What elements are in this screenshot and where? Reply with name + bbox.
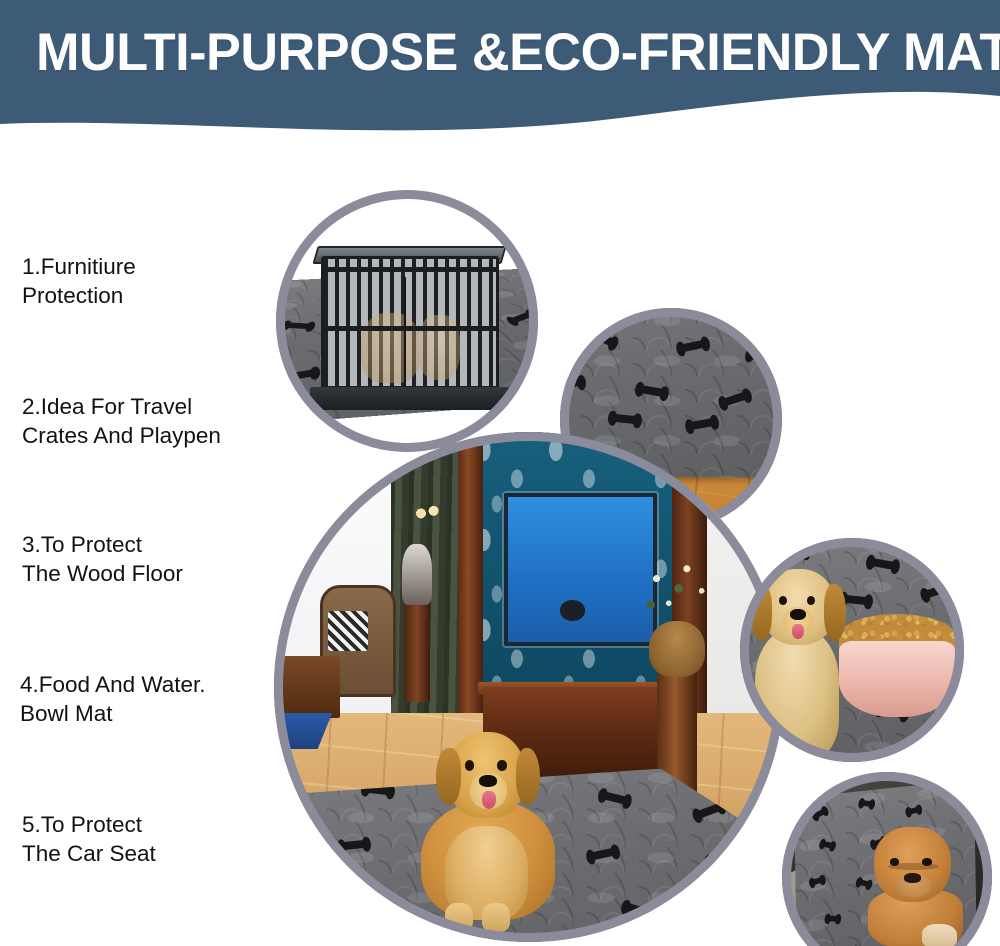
photo-collage xyxy=(0,140,1000,946)
header-banner: MULTI-PURPOSE &ECO-FRIENDLY MAT xyxy=(0,0,1000,140)
golden-retriever-dog xyxy=(412,728,565,932)
bone-icon xyxy=(639,385,666,397)
bone-icon xyxy=(860,800,872,807)
dog-tongue xyxy=(792,624,804,639)
bone-icon xyxy=(680,339,707,352)
puppy-eye-left xyxy=(890,858,899,865)
dog-eye-right xyxy=(497,760,506,770)
collage-circle-crate xyxy=(276,190,538,452)
bone-icon xyxy=(811,877,823,886)
wall-lamp xyxy=(412,493,443,544)
bone-icon xyxy=(274,795,285,810)
bone-icon xyxy=(749,351,776,366)
bone-icon xyxy=(284,322,312,329)
television xyxy=(504,493,657,646)
bone-icon xyxy=(589,847,616,860)
food-bowl-photo xyxy=(740,538,964,762)
tv-screen-object xyxy=(560,600,586,620)
dog-nose xyxy=(790,609,806,620)
collage-circle-food-bowl xyxy=(740,538,964,762)
bone-icon xyxy=(708,857,735,869)
crate-tray xyxy=(310,387,509,411)
bone-icon xyxy=(611,414,638,425)
dog-nose xyxy=(479,775,497,787)
crate-crossbar xyxy=(324,267,496,272)
bone-icon xyxy=(721,391,748,407)
bone-icon xyxy=(509,312,534,324)
bone-icon xyxy=(341,840,368,851)
crate-crossbar xyxy=(324,326,496,331)
dog-eye-left xyxy=(465,760,474,770)
bone-icon xyxy=(821,841,833,849)
bone-icon xyxy=(560,378,583,388)
golden-retriever-dog xyxy=(744,569,852,757)
bone-icon xyxy=(377,900,403,910)
bone-icon xyxy=(285,369,316,381)
bone-icon xyxy=(601,791,628,805)
pink-food-bowl xyxy=(839,641,955,717)
bone-icon xyxy=(727,308,754,310)
dog-ear-left xyxy=(436,748,460,805)
bone-icon xyxy=(625,902,652,917)
crate-photo xyxy=(276,190,538,452)
bone-icon xyxy=(827,915,839,921)
collage-circle-car-seat xyxy=(782,772,992,946)
pedestal-stand xyxy=(404,600,430,702)
bone-icon xyxy=(732,896,758,906)
dog-ear-right xyxy=(516,748,540,805)
bust-sculpture xyxy=(402,544,433,605)
dog-ear-left xyxy=(751,584,773,640)
bone-icon xyxy=(923,583,950,599)
chair-cushion xyxy=(328,611,369,652)
collage-circle-living-room xyxy=(274,432,784,942)
bone-icon xyxy=(589,329,616,347)
page-title: MULTI-PURPOSE &ECO-FRIENDLY MAT xyxy=(36,24,962,82)
dog-paw-left xyxy=(445,903,473,932)
crate-cage xyxy=(321,256,499,397)
puppy-eye-right xyxy=(922,858,931,865)
dog-ear-right xyxy=(824,584,846,640)
side-table xyxy=(274,656,340,717)
living-room-photo xyxy=(274,432,784,942)
bordeaux-puppy xyxy=(866,827,967,946)
bone-icon xyxy=(780,549,807,562)
bone-icon xyxy=(688,417,715,429)
infographic-page: MULTI-PURPOSE &ECO-FRIENDLY MAT 1.Furnit… xyxy=(0,0,1000,946)
puppy-paw xyxy=(922,924,956,946)
car-seat-photo xyxy=(782,772,992,946)
crate-door-frame xyxy=(404,277,406,394)
wood-pillar-left xyxy=(458,432,484,718)
dog-body xyxy=(755,630,839,758)
flower-arrangement xyxy=(636,554,718,636)
bone-icon xyxy=(907,807,919,815)
bone-icon xyxy=(869,558,896,570)
bone-icon xyxy=(814,808,826,819)
puppy-nose xyxy=(904,873,921,883)
bone-icon xyxy=(274,889,297,905)
dog-paw-right xyxy=(482,903,510,932)
